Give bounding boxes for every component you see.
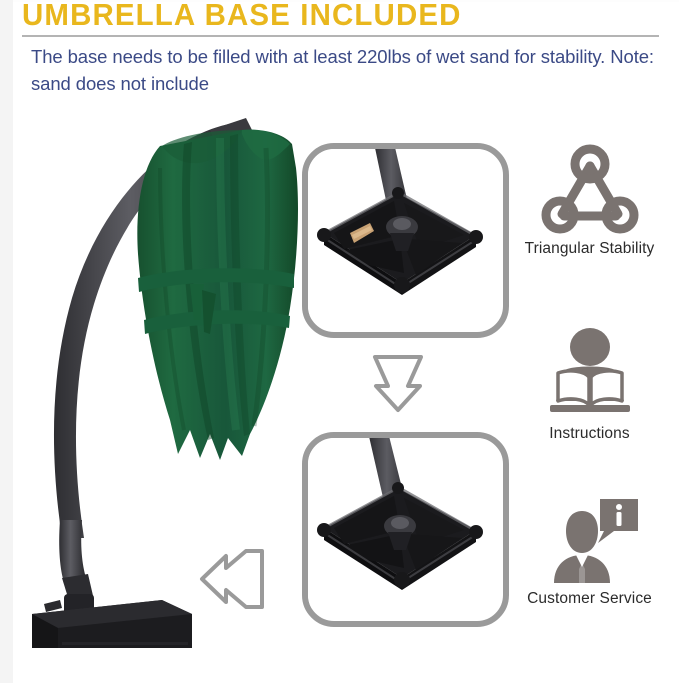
person-info-bubble-icon xyxy=(500,490,679,590)
down-arrow-icon xyxy=(366,352,430,414)
feature-label: Instructions xyxy=(500,425,679,443)
triangle-nodes-icon xyxy=(500,140,679,240)
inset-base-filled xyxy=(302,432,509,627)
page-title: UMBRELLA BASE INCLUDED xyxy=(22,0,462,32)
header-divider xyxy=(22,35,659,37)
feature-instructions: Instructions xyxy=(500,320,679,443)
left-arrow-icon xyxy=(196,548,268,610)
inset-base-empty xyxy=(302,143,509,338)
page-subtitle: The base needs to be filled with at leas… xyxy=(31,43,656,97)
feature-customer-service: Customer Service xyxy=(500,490,679,608)
left-gutter-strip xyxy=(0,0,13,683)
feature-triangular-stability: Triangular Stability xyxy=(500,140,679,258)
person-reading-book-icon xyxy=(500,320,679,425)
feature-label: Triangular Stability xyxy=(500,240,679,258)
product-infographic: UMBRELLA BASE INCLUDED The base needs to… xyxy=(0,0,679,683)
base-cross-frame-photo xyxy=(308,149,491,320)
umbrella-illustration xyxy=(14,108,314,648)
product-photo xyxy=(14,108,314,648)
base-cross-frame-filled-photo xyxy=(308,438,491,609)
feature-label: Customer Service xyxy=(500,590,679,608)
base-knob xyxy=(44,600,62,612)
